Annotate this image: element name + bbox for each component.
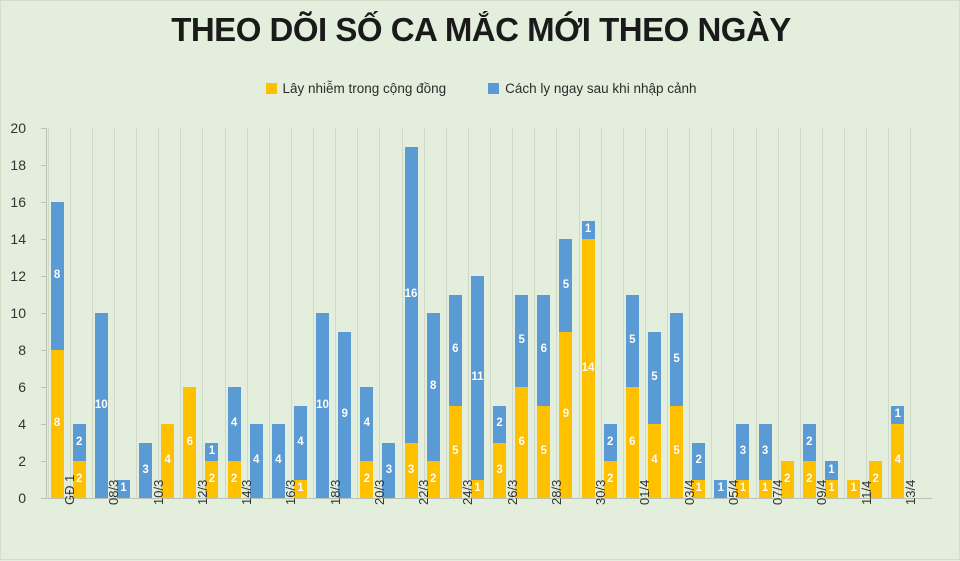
x-tick-label: 14/3 [239, 480, 254, 505]
chart-container: THEO DÕI SỐ CA MẮC MỚI THEO NGÀY Lây nhi… [0, 0, 960, 560]
x-tick-label: 24/3 [460, 480, 475, 505]
x-tick-label: 12/3 [195, 480, 210, 505]
x-tick-label: 10/3 [151, 480, 166, 505]
x-tick-label: 11/4 [859, 481, 874, 505]
x-tick-label: 26/3 [505, 480, 520, 505]
x-tick-label: 22/3 [416, 480, 431, 505]
x-tick-label: 09/4 [814, 480, 829, 505]
x-tick-label: GĐ 1 [62, 475, 77, 505]
x-tick-label: 16/3 [283, 480, 298, 505]
x-tick-label: 07/4 [770, 480, 785, 505]
x-tick-label: 28/3 [549, 480, 564, 505]
x-tick-label: 05/4 [726, 480, 741, 505]
x-tick-label: 18/3 [328, 480, 343, 505]
x-axis-labels: GĐ 108/310/312/314/316/318/320/322/324/3… [1, 1, 960, 561]
x-tick-label: 20/3 [372, 480, 387, 505]
x-tick-label: 30/3 [593, 480, 608, 505]
x-tick-label: 08/3 [106, 480, 121, 505]
x-tick-label: 03/4 [682, 480, 697, 505]
x-tick-label: 13/4 [903, 480, 918, 505]
x-tick-label: 01/4 [637, 480, 652, 505]
